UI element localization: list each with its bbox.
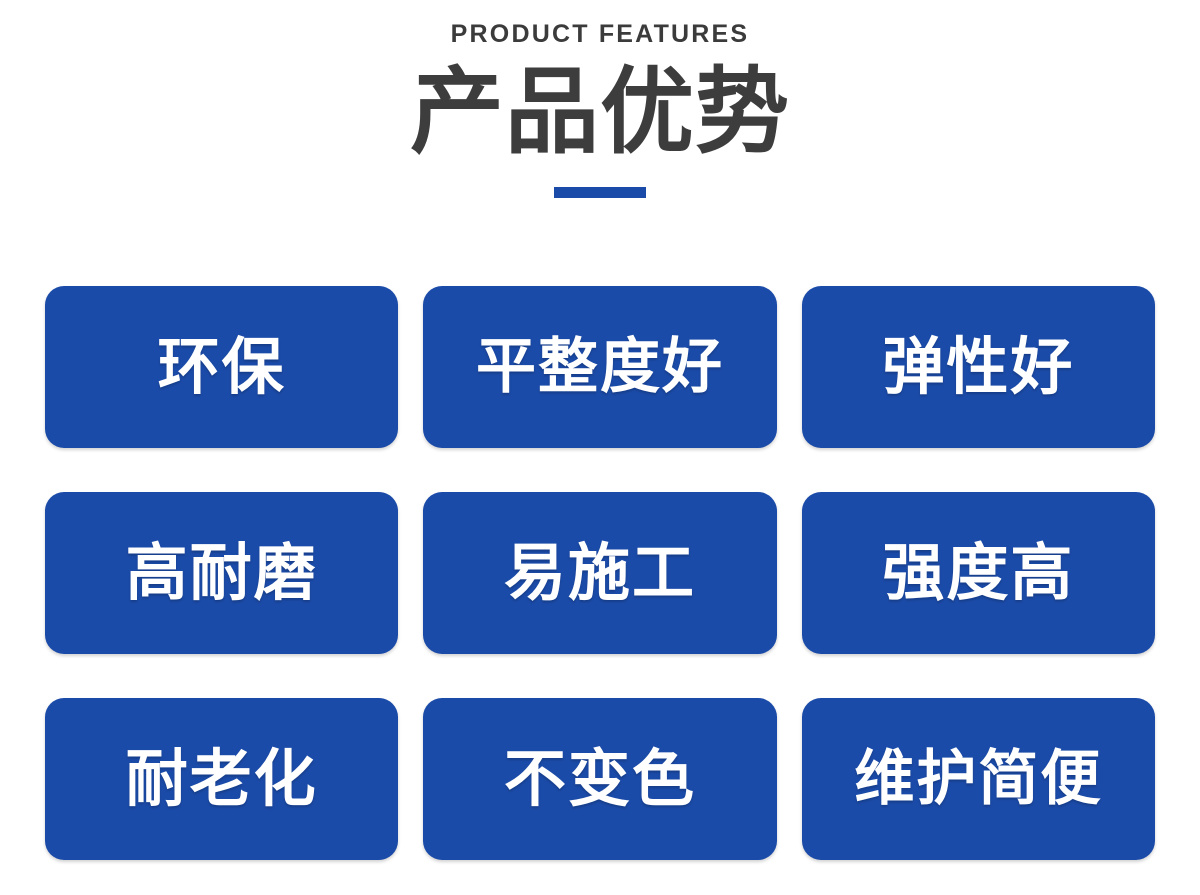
feature-card-bu-bianse[interactable]: 不变色 [423,698,776,860]
feature-card-huanbao[interactable]: 环保 [45,286,398,448]
feature-card-label: 不变色 [504,748,696,810]
title-divider [554,187,646,198]
eyebrow-text: PRODUCT FEATURES [0,22,1200,47]
product-features-page: PRODUCT FEATURES 产品优势 环保 平整度好 弹性好 高耐磨 易施… [0,0,1200,895]
feature-card-tanxing-hao[interactable]: 弹性好 [802,286,1155,448]
feature-card-label: 弹性好 [882,336,1074,398]
feature-card-label: 耐老化 [126,748,318,810]
feature-card-qiangdu-gao[interactable]: 强度高 [802,492,1155,654]
feature-card-grid: 环保 平整度好 弹性好 高耐磨 易施工 强度高 耐老化 不变色 维护简便 [45,286,1155,860]
feature-card-label: 环保 [158,336,286,398]
page-header: PRODUCT FEATURES 产品优势 [0,0,1200,198]
feature-card-label: 维护简便 [854,749,1102,809]
feature-card-nai-laohua[interactable]: 耐老化 [45,698,398,860]
feature-card-pingzhengdu-hao[interactable]: 平整度好 [423,286,776,448]
feature-card-label: 高耐磨 [126,542,318,604]
divider-container [0,187,1200,198]
feature-card-label: 强度高 [882,542,1074,604]
feature-card-weihu-jianbian[interactable]: 维护简便 [802,698,1155,860]
feature-card-yi-shigong[interactable]: 易施工 [423,492,776,654]
feature-card-label: 易施工 [504,542,696,604]
page-title: 产品优势 [0,65,1200,161]
feature-card-label: 平整度好 [476,337,724,397]
feature-card-gao-naimo[interactable]: 高耐磨 [45,492,398,654]
